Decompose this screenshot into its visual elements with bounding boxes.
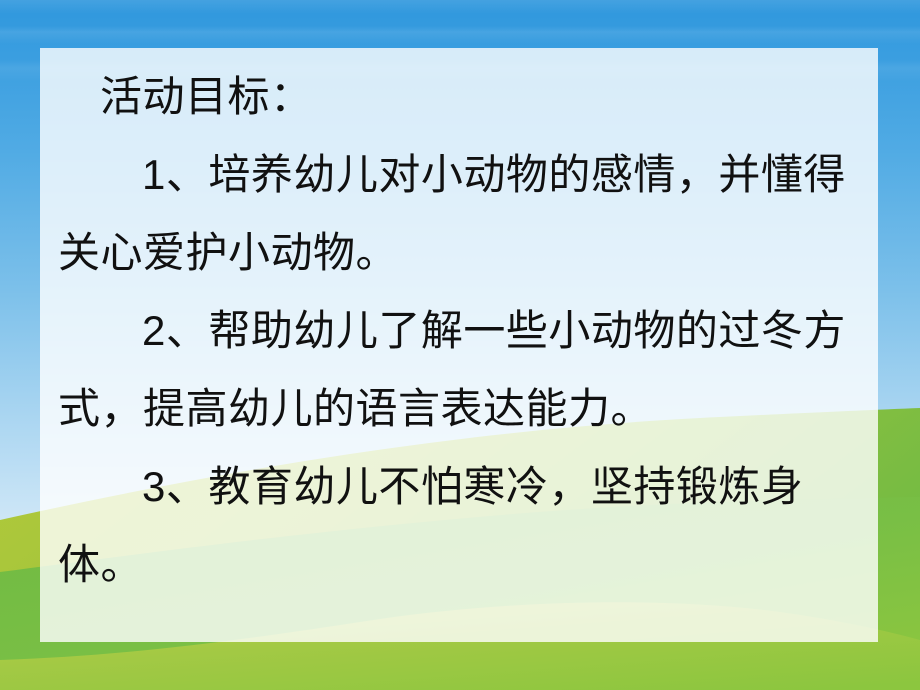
slide-canvas: 活动目标： 1、培养幼儿对小动物的感情，并懂得关心爱护小动物。 2、帮助幼儿了解… [0,0,920,690]
content-panel: 活动目标： 1、培养幼儿对小动物的感情，并懂得关心爱护小动物。 2、帮助幼儿了解… [40,48,878,642]
objective-item-2: 2、帮助幼儿了解一些小动物的过冬方式，提高幼儿的语言表达能力。 [58,292,866,448]
objective-item-3: 3、教育幼儿不怕寒冷，坚持锻炼身体。 [58,448,866,604]
objective-item-1: 1、培养幼儿对小动物的感情，并懂得关心爱护小动物。 [58,136,866,292]
page-title: 活动目标： [100,58,866,136]
